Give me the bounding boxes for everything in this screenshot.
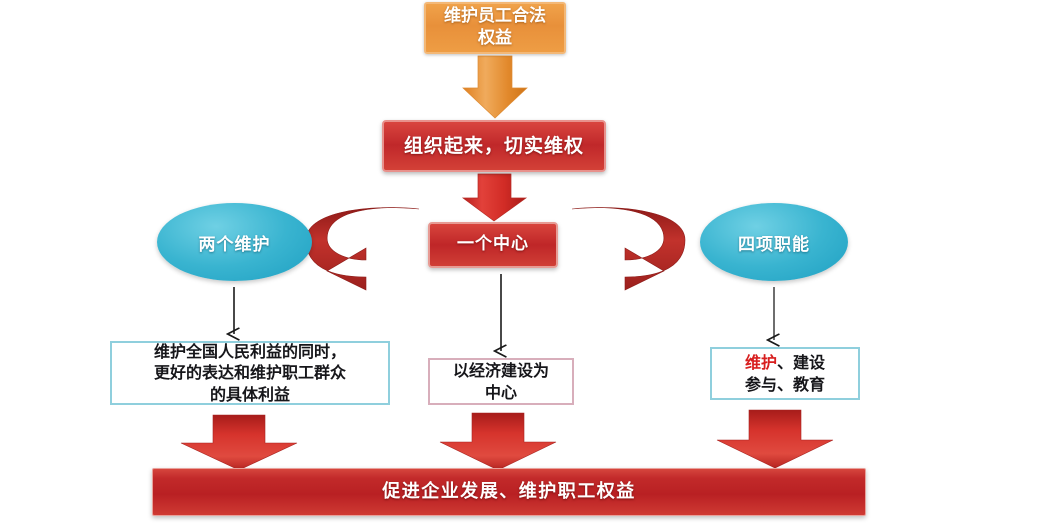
center-box-one-center: 一个中心 (428, 222, 558, 268)
block-down-arrow-middle (440, 413, 556, 470)
slogan-box: 组织起来，切实维权 (382, 120, 606, 172)
red-down-arrow (463, 174, 526, 221)
curved-left-arrow (306, 208, 419, 290)
ellipse-four-functions: 四项职能 (700, 203, 848, 281)
curved-right-arrow (572, 208, 685, 290)
block-down-arrow-left (181, 415, 297, 470)
bottom-goal-bar: 促进企业发展、维护职工权益 (152, 468, 866, 516)
detail-box-right-emphasis: 维护 (745, 353, 777, 372)
flowchart-canvas: 维护员工合法 权益 组织起来，切实维权 两个维护 一个中心 四项职能 维护全国人… (0, 0, 1050, 525)
block-down-arrow-right (717, 410, 833, 468)
detail-box-left: 维护全国人民利益的同时， 更好的表达和维护职工群众 的具体利益 (110, 341, 390, 405)
detail-box-right: 维护、建设 参与、教育 (710, 347, 860, 400)
detail-box-middle: 以经济建设为 中心 (428, 358, 574, 405)
ellipse-two-safeguards: 两个维护 (157, 203, 312, 281)
orange-down-arrow (463, 56, 527, 118)
top-title-box: 维护员工合法 权益 (424, 2, 566, 54)
